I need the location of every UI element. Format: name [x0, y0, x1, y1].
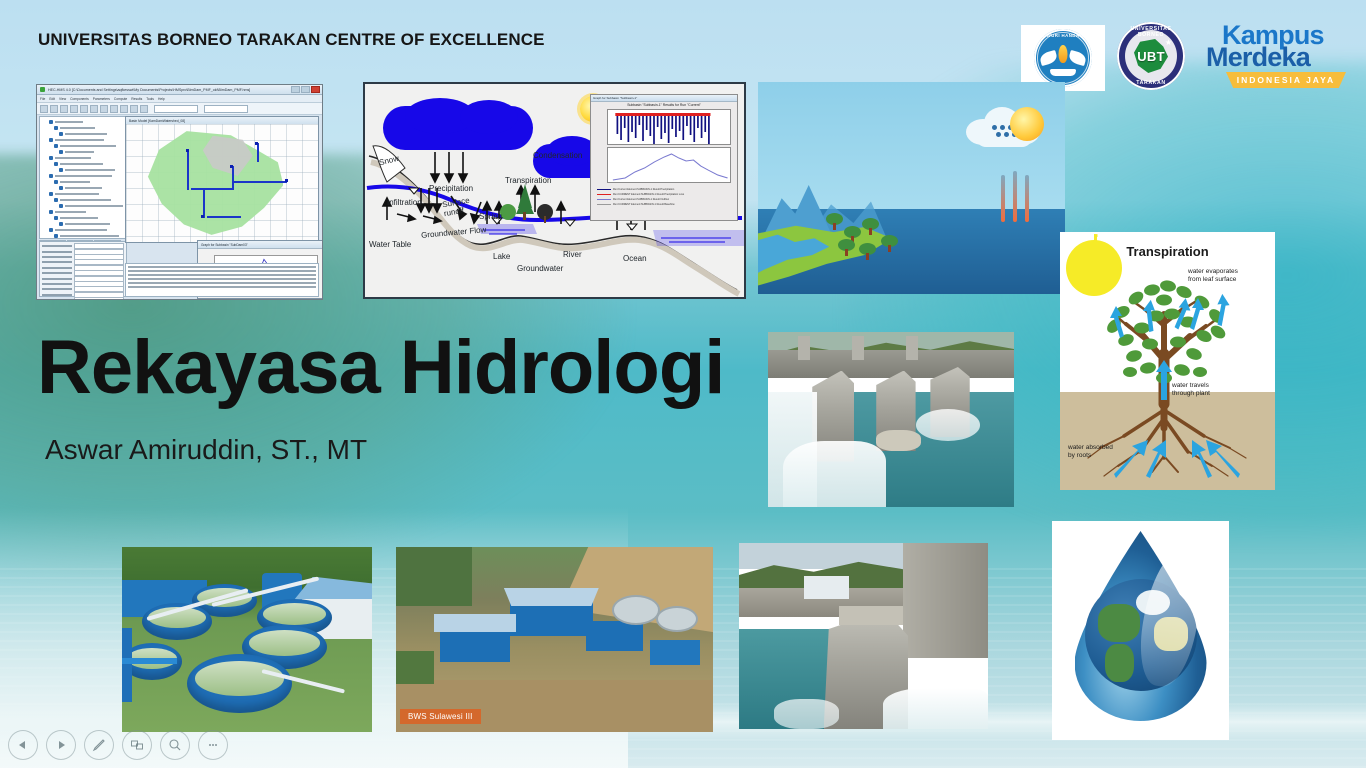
previous-slide-button[interactable] — [8, 730, 38, 760]
hechms-menubar: File Edit View Components Parameters Com… — [37, 95, 322, 103]
tree-icon — [826, 213, 843, 230]
evaporation-vapor-icon — [1013, 171, 1017, 222]
log-line — [128, 286, 316, 288]
element-selector-combo — [204, 105, 248, 113]
tree-icon — [500, 184, 553, 223]
continent-shape — [1105, 644, 1134, 682]
property-label — [42, 288, 72, 290]
label-groundwater: Groundwater — [517, 264, 563, 273]
gate-column — [852, 336, 864, 361]
hechms-log-panel — [125, 263, 319, 297]
hechms-toolbar — [37, 103, 322, 115]
wing-right-icon — [1068, 49, 1088, 65]
legend-label: Run:Current Element:SUBBASIN-1 Result:Pr… — [613, 188, 674, 191]
dam-spillway-photo — [768, 332, 1014, 507]
tree-node-label — [65, 151, 94, 153]
triangle-left-icon — [17, 739, 29, 751]
tool-icon — [100, 105, 108, 113]
tree-node-label — [65, 169, 115, 171]
wing-left-icon — [1039, 49, 1059, 65]
junction-node — [186, 149, 189, 152]
slideshow-toolbar — [8, 730, 228, 760]
property-label — [42, 251, 72, 253]
tree-node-label — [55, 157, 91, 159]
junction-node — [230, 165, 233, 168]
flame-icon — [1059, 45, 1068, 63]
ubt-logo-icon: ★ UBT UNIVERSITAS BORNEO TARAKAN — [1117, 22, 1185, 90]
property-label — [42, 272, 72, 274]
star-icon: ★ — [1165, 39, 1172, 47]
property-label — [42, 299, 72, 300]
close-icon — [311, 86, 320, 93]
property-label — [42, 267, 72, 269]
label-lake: Lake — [493, 252, 510, 261]
tree-node-icon — [59, 222, 63, 226]
tree-node-label — [55, 193, 99, 195]
label-water-table: Water Table — [369, 240, 411, 249]
tree-node-icon — [54, 234, 58, 238]
menu-edit: Edit — [49, 97, 55, 101]
magnifier-icon — [168, 738, 182, 752]
menu-file: File — [40, 97, 45, 101]
more-options-button[interactable] — [198, 730, 228, 760]
property-label — [42, 245, 72, 247]
tree-node-label — [55, 211, 86, 213]
legend-label: Run:CURRENT Element:SUBBASIN-1 Result:Pr… — [613, 193, 684, 196]
page-title: UNIVERSITAS BORNEO TARAKAN CENTRE OF EXC… — [38, 30, 545, 50]
ubt-monogram: UBT — [1137, 49, 1165, 64]
legend-swatch-precipitation — [597, 189, 611, 191]
control-house — [804, 576, 849, 598]
property-label — [42, 294, 72, 296]
spillway-foam — [883, 688, 988, 729]
tut-wuri-wings — [1040, 48, 1086, 74]
label-precipitation: Precipitation — [429, 184, 473, 193]
wtp-railing — [122, 658, 177, 664]
zoom-button[interactable] — [160, 730, 190, 760]
river-reach — [232, 166, 234, 190]
spillway-foam — [774, 699, 839, 729]
spillway-foam — [783, 441, 886, 508]
label-condensation: Condensation — [533, 151, 582, 160]
hydrograph-line — [608, 148, 730, 182]
water-cycle-canvas: Condensation Precipitation Transpiration… — [365, 84, 744, 297]
site-building-roof — [434, 614, 516, 633]
dam-spillway-scene — [768, 332, 1014, 507]
hechms-property-panel — [39, 241, 127, 297]
earth-globe — [1085, 579, 1197, 691]
dam-intake-scene — [739, 543, 988, 729]
river-reach — [234, 181, 288, 183]
tool-icon — [80, 105, 88, 113]
precipitation-hyetograph — [607, 109, 731, 145]
continent-shape — [1098, 604, 1141, 642]
inset-window-title: Graph for Subbasin "Subbasin-1" — [591, 95, 737, 102]
transpiration-diagram-image: Transpiration — [1060, 232, 1275, 490]
tree-node-icon — [49, 192, 53, 196]
tree-node-icon — [49, 228, 53, 232]
tree-node-label — [60, 181, 90, 183]
tree-node-icon — [59, 168, 63, 172]
continent-shape — [1154, 617, 1188, 651]
tree-node-icon — [49, 174, 53, 178]
legend-swatch-baseflow — [597, 204, 611, 206]
menu-help: Help — [158, 97, 165, 101]
tree-node-label — [60, 127, 95, 129]
tree-node-label — [60, 145, 116, 147]
run-selector-combo — [154, 105, 198, 113]
ellipsis-icon — [206, 738, 220, 752]
maximize-icon — [301, 86, 310, 93]
legend-swatch-precip-loss — [597, 194, 611, 196]
tree-node-icon — [54, 162, 58, 166]
property-value-field[interactable] — [74, 297, 124, 300]
evaporation-vapor-icon — [1001, 175, 1005, 222]
junction-node — [255, 142, 258, 145]
tree-icon — [862, 218, 879, 235]
tree-node-icon — [59, 132, 63, 136]
log-line — [128, 266, 316, 268]
presentation-slide: UNIVERSITAS BORNEO TARAKAN CENTRE OF EXC… — [0, 0, 1366, 768]
polar-ice — [1136, 590, 1170, 615]
tut-wuri-circle: TUT WURI HANDAYANI — [1034, 29, 1092, 87]
label-spring: Spring — [479, 212, 502, 221]
earth-water-drop-image — [1052, 521, 1229, 740]
tree-icon — [859, 243, 876, 260]
spillway-foam — [916, 409, 980, 441]
kampus-merdeka-banner-label: INDONESIA JAYA — [1237, 75, 1335, 85]
app-icon — [40, 87, 45, 92]
menu-parameters: Parameters — [93, 97, 110, 101]
property-label — [42, 278, 72, 280]
cartoon-water-cycle-image — [758, 82, 1065, 294]
slides-grid-icon — [130, 738, 144, 752]
menu-view: View — [59, 97, 66, 101]
label-transpiration: Transpiration — [505, 176, 551, 185]
tree-node-icon — [59, 150, 63, 154]
basin-map-canvas — [126, 124, 318, 242]
pen-tool-button[interactable] — [84, 730, 114, 760]
tree-node-icon — [49, 156, 53, 160]
river-reach — [207, 216, 242, 218]
hechms-watershed-tree — [39, 116, 126, 239]
tree-node-label — [60, 235, 119, 237]
concrete-apron — [876, 430, 920, 451]
site-building — [586, 621, 643, 651]
hydrological-cycle-diagram-image: Condensation Precipitation Transpiration… — [363, 82, 746, 299]
hechms-basin-model-window: Basin Model [KamDamWatershed_08] — [125, 116, 319, 243]
tool-icon — [130, 105, 138, 113]
aerial-road — [396, 680, 713, 732]
legend-label: Run:Current Element:SUBBASIN-1 Result:Ou… — [613, 198, 669, 201]
tree-node-icon — [59, 186, 63, 190]
river-reach — [191, 188, 233, 190]
menu-results: Results — [131, 97, 142, 101]
tree-node-label — [55, 139, 104, 141]
property-row — [42, 298, 124, 300]
kampus-merdeka-logo: Kampus Merdeka INDONESIA JAYA — [1200, 20, 1350, 92]
tree-node-label — [65, 205, 123, 207]
gate-column — [798, 336, 810, 361]
ubt-bottom-label: TARAKAN — [1117, 80, 1185, 86]
aerial-vegetation — [396, 547, 472, 606]
tree-node-icon — [54, 144, 58, 148]
gate-walkway — [839, 606, 904, 625]
menu-components: Components — [70, 97, 89, 101]
tree-node-icon — [49, 120, 53, 124]
tool-icon — [90, 105, 98, 113]
inset-legend: Run:Current Element:SUBBASIN-1 Result:Pr… — [597, 187, 731, 207]
tree-node-icon — [49, 210, 53, 214]
tool-icon — [120, 105, 128, 113]
intake-tower — [903, 543, 988, 658]
menu-compute: Compute — [114, 97, 127, 101]
tree-node-icon — [54, 216, 58, 220]
label-infiltration: Infiltration — [387, 198, 422, 207]
tool-icon — [60, 105, 68, 113]
site-building-roof — [504, 588, 599, 607]
dam-intake-photo — [739, 543, 988, 729]
label-water-absorbed: water absorbed by roots — [1068, 444, 1113, 460]
label-water-travels: water travels through plant — [1172, 382, 1210, 398]
gate-column — [906, 336, 918, 361]
tool-icon — [140, 105, 148, 113]
tree-node-icon — [54, 126, 58, 130]
tool-icon — [40, 105, 48, 113]
tree-icon — [881, 235, 898, 252]
tree-node-label — [60, 217, 98, 219]
aerial-construction-site-photo: BWS Sulawesi III — [396, 547, 713, 732]
legend-label: Run:CURRENT Element:SUBBASIN-1 Result:Ba… — [613, 203, 675, 206]
aerial-photo-banner: BWS Sulawesi III — [400, 709, 481, 724]
label-water-evaporates: water evaporates from leaf surface — [1188, 268, 1238, 284]
kampus-merdeka-banner: INDONESIA JAYA — [1226, 72, 1346, 88]
sun-icon — [1010, 107, 1044, 141]
river-reach — [187, 150, 189, 190]
outflow-hydrograph — [607, 147, 731, 183]
menu-tools: Tools — [146, 97, 154, 101]
hyetograph-bars — [608, 110, 730, 144]
inset-chart-title: Subbasin "Subbasin-1" Results for Run "C… — [591, 103, 737, 107]
legend-swatch-outflow — [597, 199, 611, 201]
log-line — [128, 270, 316, 272]
wtp-railing — [122, 628, 132, 702]
property-label — [42, 261, 72, 263]
evaporation-vapor-icon — [1025, 175, 1029, 222]
log-line — [128, 278, 316, 280]
tree-node-icon — [54, 198, 58, 202]
junction-node — [201, 215, 204, 218]
ubt-top-label: UNIVERSITAS BORNEO — [1117, 26, 1185, 38]
tree-node-label — [55, 121, 83, 123]
tree-node-icon — [54, 180, 58, 184]
pen-icon — [92, 738, 106, 752]
all-slides-button[interactable] — [122, 730, 152, 760]
site-building — [650, 640, 701, 666]
tree-node-label — [55, 229, 107, 231]
aerial-vegetation — [396, 651, 434, 684]
tree-icon — [838, 239, 855, 256]
tut-wuri-arc-label: TUT WURI HANDAYANI — [1034, 33, 1092, 38]
tree-node-label — [65, 187, 102, 189]
minimize-icon — [291, 86, 300, 93]
next-slide-button[interactable] — [46, 730, 76, 760]
junction-node — [285, 179, 288, 182]
tree-node-icon — [49, 138, 53, 142]
legend-row: Run:CURRENT Element:SUBBASIN-1 Result:Ba… — [597, 202, 731, 207]
tree-node-label — [55, 175, 112, 177]
triangle-right-icon — [55, 739, 67, 751]
tool-icon — [110, 105, 118, 113]
tree-node-label — [60, 163, 103, 165]
log-line — [128, 282, 316, 284]
book-icon — [1050, 69, 1076, 76]
circular-tank — [612, 595, 660, 625]
kampus-merdeka-line2: Merdeka — [1206, 44, 1310, 71]
hechms-window: HEC-HMS 4.0 [C:\Documents and Settings\a… — [37, 85, 322, 299]
hechms-titlebar: HEC-HMS 4.0 [C:\Documents and Settings\a… — [37, 85, 322, 95]
aerial-photo-banner-label: BWS Sulawesi III — [408, 712, 473, 721]
slide-subtitle-author: Aswar Amiruddin, ST., MT — [45, 434, 367, 466]
property-label — [42, 256, 72, 258]
slide-title: Rekayasa Hidrologi — [37, 330, 724, 406]
river-reach — [257, 143, 259, 162]
hechms-subbasin-graph-inset: Graph for Subbasin "Subbasin-1" Subbasin… — [590, 94, 738, 221]
graph-window-title: Graph for Subbasin "SubDam03" — [198, 241, 322, 249]
tool-icon — [50, 105, 58, 113]
hechms-screenshot-image: HEC-HMS 4.0 [C:\Documents and Settings\a… — [36, 84, 323, 300]
label-river: River — [563, 250, 582, 259]
clarifier-tank — [187, 654, 292, 713]
tree-node-icon — [59, 204, 63, 208]
tree-node-label — [65, 223, 110, 225]
log-line — [128, 274, 316, 276]
window-controls — [291, 86, 320, 93]
label-ocean: Ocean — [623, 254, 647, 263]
tool-icon — [70, 105, 78, 113]
tree-node-label — [65, 133, 107, 135]
hechms-window-title: HEC-HMS 4.0 [C:\Documents and Settings\a… — [48, 88, 250, 92]
property-label — [42, 283, 72, 285]
water-treatment-plant-photo — [122, 547, 372, 732]
tree-node-label — [60, 199, 111, 201]
